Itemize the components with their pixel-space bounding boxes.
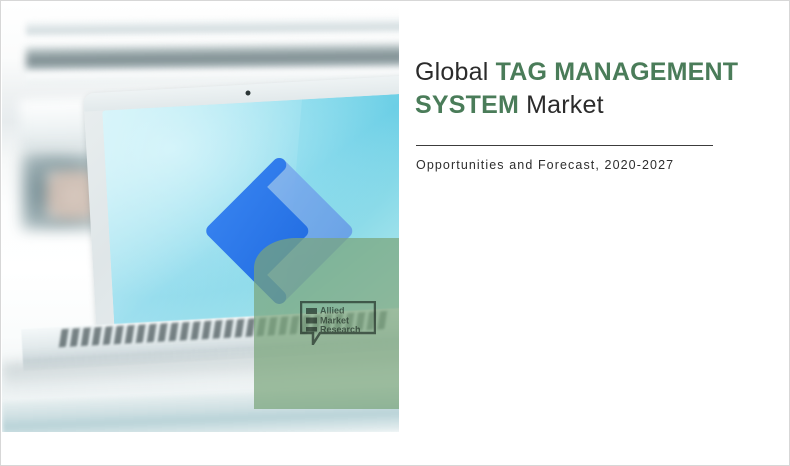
- market-report-infographic: Allied Market Research Global TAG MANAGE…: [0, 0, 790, 466]
- page-title: Global TAG MANAGEMENT SYSTEM Market: [415, 56, 745, 122]
- title-highlight-2: SYSTEM: [415, 91, 519, 119]
- tag-manager-diamond-icon: [199, 151, 359, 311]
- logo-line-3: Research: [320, 325, 361, 335]
- title-divider: [416, 145, 713, 146]
- title-highlight-1: TAG MANAGEMENT: [496, 58, 739, 86]
- logo-line-1: Allied: [320, 306, 345, 316]
- report-subtitle: Opportunities and Forecast, 2020-2027: [416, 158, 674, 172]
- title-prefix: Global: [415, 58, 496, 86]
- title-suffix: Market: [519, 91, 604, 119]
- right-content-column: Global TAG MANAGEMENT SYSTEM Market Oppo…: [399, 2, 788, 464]
- allied-market-research-logo: Allied Market Research: [300, 301, 376, 345]
- window-blind-band-2: [26, 44, 399, 70]
- photo-bottom-fade: [2, 432, 399, 465]
- logo-line-2: Market: [320, 316, 349, 326]
- hero-photo: [2, 2, 399, 465]
